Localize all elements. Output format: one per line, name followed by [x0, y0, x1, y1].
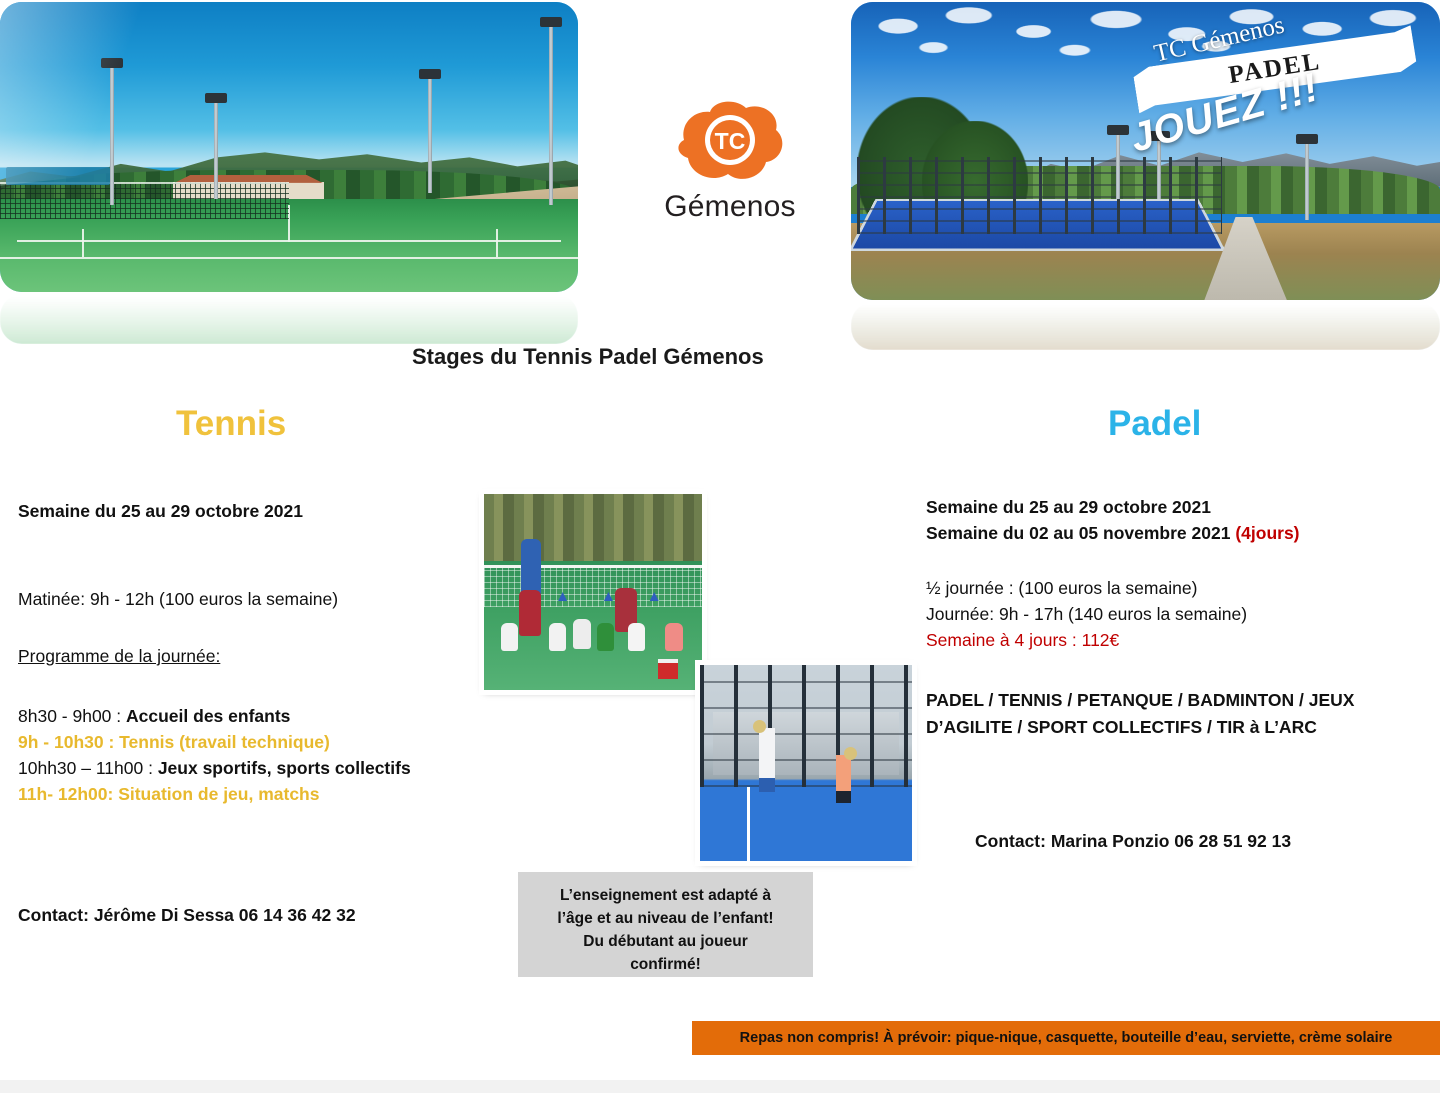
padel-courts-scene: TC Gémenos PADEL JOUEZ !!! [851, 2, 1440, 300]
child-figure [549, 623, 566, 651]
meals-notice-banner: Repas non compris! À prévoir: pique-niqu… [692, 1021, 1440, 1055]
programme-time: 11h- 12h00: Situation de jeu, matchs [18, 784, 319, 804]
meals-notice-text: Repas non compris! À prévoir: pique-niqu… [740, 1030, 1393, 1046]
padel-week-1: Semaine du 25 au 29 octobre 2021 [926, 494, 1406, 520]
club-logo: TC Gémenos [617, 96, 843, 224]
tennis-contact: Contact: Jérôme Di Sessa 06 14 36 42 32 [18, 902, 478, 928]
caption-line: l’âge et au niveau de l’enfant! [528, 907, 803, 930]
coach-figure [521, 539, 541, 597]
programme-time: 9h - 10h30 : Tennis (travail technique) [18, 732, 330, 752]
padel-courts-photo-block: TC Gémenos PADEL JOUEZ !!! [851, 2, 1440, 300]
tennis-programme-list: 8h30 - 9h00 : Accueil des enfants 9h - 1… [18, 703, 448, 807]
padel-contact: Contact: Marina Ponzio 06 28 51 92 13 [975, 828, 1440, 854]
child-figure [501, 623, 518, 651]
programme-row: 10hh30 – 11h00 : Jeux sportifs, sports c… [18, 755, 448, 781]
programme-row: 9h - 10h30 : Tennis (travail technique) [18, 729, 448, 755]
floodlight-pole-icon [1116, 133, 1120, 199]
programme-row: 11h- 12h00: Situation de jeu, matchs [18, 781, 448, 807]
padel-week-2: Semaine du 02 au 05 novembre 2021 (4jour… [926, 520, 1426, 546]
kids-lesson-scene [484, 494, 702, 690]
padel-players-photo [700, 665, 912, 861]
page-title: Stages du Tennis Padel Gémenos [412, 344, 764, 370]
caption-line: confirmé! [528, 953, 803, 976]
club-logo-name: Gémenos [617, 190, 843, 224]
floodlight-pole-icon [428, 77, 432, 193]
tennis-net-icon [484, 565, 702, 607]
court-line [0, 257, 578, 259]
tennis-section-heading: Tennis [176, 404, 286, 444]
player-figure [759, 728, 775, 792]
padel-racket-icon [753, 720, 766, 733]
tc-logo-mark-icon: TC [670, 96, 790, 188]
player-figure [836, 755, 851, 803]
padel-full-day-price: Journée: 9h - 17h (140 euros la semaine) [926, 601, 1406, 627]
programme-time: 8h30 - 9h00 : [18, 706, 121, 726]
teaching-caption: L’enseignement est adapté à l’âge et au … [518, 872, 813, 977]
padel-half-day-price: ½ journée : (100 euros la semaine) [926, 575, 1406, 601]
background-bushes [484, 494, 702, 561]
padel-four-day-price: Semaine à 4 jours : 112€ [926, 627, 1406, 653]
tennis-photo-reflection [0, 294, 578, 344]
court-line [747, 787, 750, 861]
programme-activity: Jeux sportifs, sports collectifs [158, 758, 411, 778]
padel-week-2-text: Semaine du 02 au 05 novembre 2021 [926, 523, 1235, 543]
svg-text:TC: TC [715, 128, 746, 154]
child-figure [665, 623, 683, 651]
tennis-net-icon [0, 182, 289, 219]
caption-line: L’enseignement est adapté à [528, 884, 803, 907]
kids-lesson-photo [484, 494, 702, 690]
tennis-week: Semaine du 25 au 29 octobre 2021 [18, 498, 458, 524]
court-line [82, 229, 84, 257]
padel-cage-icon [700, 665, 912, 787]
caption-line: Du débutant au joueur [528, 930, 803, 953]
programme-activity: Accueil des enfants [126, 706, 290, 726]
child-figure [519, 590, 541, 636]
padel-cage-icon [857, 157, 1222, 234]
padel-overlay-banner: TC Gémenos PADEL JOUEZ !!! [1122, 26, 1428, 157]
footer-strip [0, 1080, 1440, 1093]
padel-activities: PADEL / TENNIS / PETANQUE / BADMINTON / … [926, 687, 1401, 741]
tennis-court-scene [0, 2, 578, 292]
padel-players-scene [700, 665, 912, 861]
tennis-court-photo-block [0, 2, 578, 292]
padel-photo-reflection [851, 302, 1440, 350]
sun-flare-icon [0, 2, 218, 188]
programme-row: 8h30 - 9h00 : Accueil des enfants [18, 703, 448, 729]
child-figure [597, 623, 614, 651]
padel-week-2-note: (4jours) [1235, 523, 1299, 543]
tennis-programme-label: Programme de la journée: [18, 643, 318, 669]
court-line [17, 240, 561, 242]
court-line [496, 229, 498, 257]
programme-time: 10hh30 – 11h00 : [18, 758, 153, 778]
ball-basket-icon [658, 659, 678, 679]
floodlight-pole-icon [549, 25, 553, 205]
child-figure [628, 623, 645, 651]
tennis-morning-price: Matinée: 9h - 12h (100 euros la semaine) [18, 586, 458, 612]
tennis-court-photo [0, 2, 578, 292]
padel-section-heading: Padel [1108, 404, 1201, 444]
poster-root: TC Gémenos PADEL JOUEZ !!! TC Gémenos [0, 0, 1440, 1093]
padel-courts-photo: TC Gémenos PADEL JOUEZ !!! [851, 2, 1440, 300]
child-figure [573, 619, 591, 649]
